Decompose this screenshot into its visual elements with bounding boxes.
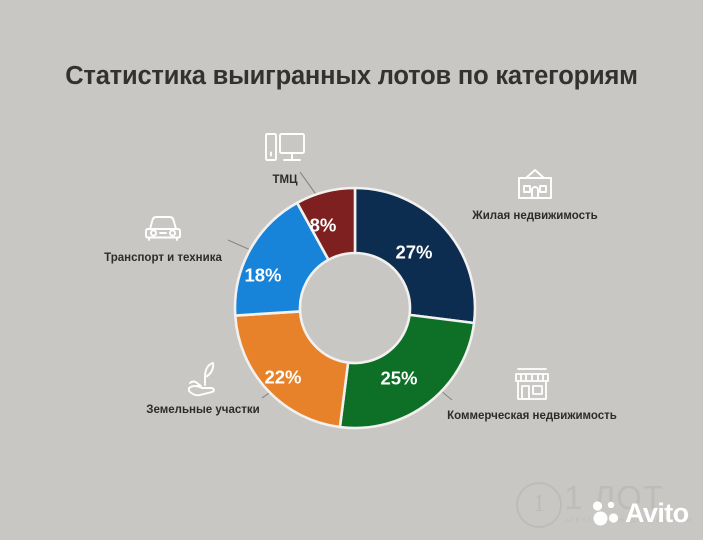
storefront-icon xyxy=(509,364,555,406)
donut-chart: 27% 25% 22% 18% 8% ТМЦ xyxy=(0,0,703,540)
avito-dots-icon xyxy=(590,499,620,527)
slice-value-commercial: 25% xyxy=(380,368,417,389)
callout-label-tmc: ТМЦ xyxy=(230,175,340,187)
infographic-canvas: Статистика выигранных лотов по категория… xyxy=(0,0,703,540)
callout-tmc[interactable]: ТМЦ xyxy=(230,128,340,187)
car-icon xyxy=(140,206,186,248)
callout-transport[interactable]: Транспорт и техника xyxy=(78,206,248,265)
callout-label-residential: Жилая недвижимость xyxy=(455,211,615,223)
house-icon xyxy=(512,164,558,206)
callout-commercial[interactable]: Коммерческая недвижимость xyxy=(437,364,627,423)
avito-logo: Avito xyxy=(590,498,689,528)
slice-value-residential: 27% xyxy=(395,242,432,263)
slice-value-transport: 18% xyxy=(244,265,281,286)
callout-land[interactable]: Земельные участки xyxy=(118,358,288,417)
callout-label-transport: Транспорт и техника xyxy=(78,253,248,265)
slice-value-tmc: 8% xyxy=(310,215,337,236)
hand-sprout-icon xyxy=(180,358,226,400)
donut-chart-svg: 27% 25% 22% 18% 8% xyxy=(0,0,703,540)
callout-label-commercial: Коммерческая недвижимость xyxy=(437,411,627,423)
desktop-computer-icon xyxy=(262,128,308,170)
callout-residential[interactable]: Жилая недвижимость xyxy=(455,164,615,223)
callout-label-land: Земельные участки xyxy=(118,405,288,417)
avito-wordmark: Avito xyxy=(625,500,689,527)
